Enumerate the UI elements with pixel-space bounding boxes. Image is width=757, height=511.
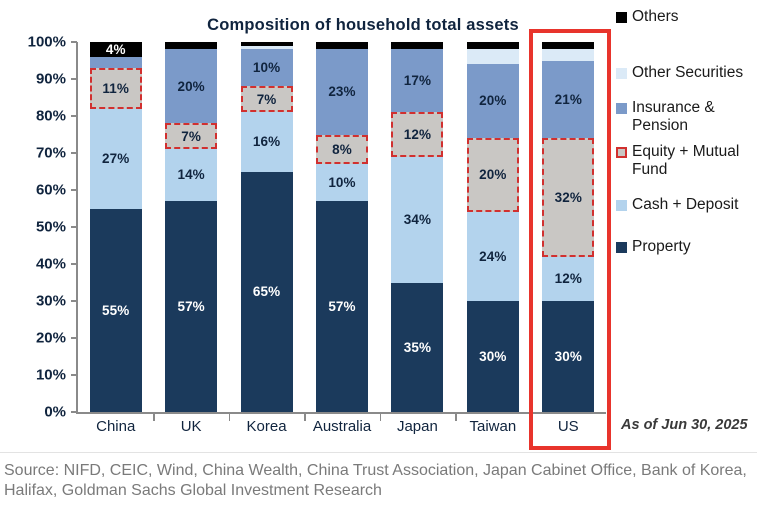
bar-segment[interactable]: 27% [90, 109, 142, 209]
chart-title: Composition of household total assets [178, 16, 548, 35]
legend-item[interactable]: Insurance & Pension [616, 99, 757, 136]
bar-segment-label: 30% [479, 350, 506, 364]
bar-group[interactable]: 35%34%12%17% [391, 42, 443, 412]
y-axis-labels: 0%10%20%30%40%50%60%70%80%90%100% [0, 42, 68, 414]
y-axis-tick-mark [71, 78, 77, 80]
chart-legend: OthersOther SecuritiesInsurance & Pensio… [616, 8, 757, 258]
legend-swatch-icon [616, 68, 627, 79]
x-axis-divider [229, 412, 231, 421]
legend-label: Cash + Deposit [632, 196, 738, 214]
y-axis-tick-label: 70% [0, 145, 66, 162]
bar-segment[interactable]: 16% [241, 112, 293, 171]
bar-group[interactable]: 55%27%11%4% [90, 42, 142, 412]
stacked-bar[interactable]: 55%27%11%4% [90, 42, 142, 412]
legend-item[interactable]: Other Securities [616, 64, 757, 82]
legend-item[interactable]: Property [616, 238, 757, 256]
bar-segment-label: 11% [102, 82, 129, 96]
bar-group[interactable]: 65%16%7%10% [241, 42, 293, 412]
y-axis-tick-label: 40% [0, 256, 66, 273]
bar-group[interactable]: 57%14%7%20% [165, 42, 217, 412]
y-axis-tick-mark [71, 263, 77, 265]
stacked-bar[interactable]: 35%34%12%17% [391, 42, 443, 412]
x-axis-category-label: Australia [304, 418, 379, 435]
bar-segment[interactable] [90, 57, 142, 68]
bar-segment[interactable]: 30% [467, 301, 519, 412]
legend-swatch-icon [616, 103, 627, 114]
bar-segment[interactable] [316, 42, 368, 49]
bar-group[interactable]: 57%10%8%23% [316, 42, 368, 412]
bar-segment-label: 7% [181, 130, 201, 144]
bar-segment-label: 32% [555, 191, 582, 205]
x-axis-category-label: Korea [229, 418, 304, 435]
bar-segment[interactable] [165, 42, 217, 49]
x-axis-divider [304, 412, 306, 421]
y-axis-tick-mark [71, 41, 77, 43]
bar-segment-label: 35% [404, 341, 431, 355]
bar-segment[interactable]: 20% [467, 64, 519, 138]
bar-segment[interactable]: 20% [467, 138, 519, 212]
bar-segment-label: 8% [332, 143, 352, 157]
legend-label: Others [632, 8, 679, 26]
bar-segment[interactable]: 12% [542, 257, 594, 301]
bar-segment[interactable]: 10% [316, 164, 368, 201]
legend-label: Equity + Mutual Fund [632, 143, 757, 180]
legend-swatch-icon [616, 242, 627, 253]
legend-label: Other Securities [632, 64, 743, 82]
bar-segment-label: 12% [404, 128, 431, 142]
y-axis-tick-label: 10% [0, 367, 66, 384]
bar-segment[interactable]: 57% [316, 201, 368, 412]
bar-segment[interactable]: 55% [90, 209, 142, 413]
bar-segment[interactable] [241, 42, 293, 46]
bar-segment-label: 21% [555, 93, 582, 107]
bar-segment-label: 65% [253, 285, 280, 299]
bar-segment-label: 20% [479, 168, 506, 182]
bar-segment[interactable]: 32% [542, 138, 594, 256]
bar-segment-label: 34% [404, 213, 431, 227]
y-axis-tick-mark [71, 411, 77, 413]
y-axis-tick-label: 100% [0, 34, 66, 51]
x-axis-line [76, 412, 606, 414]
y-axis-tick-mark [71, 189, 77, 191]
bar-segment-label: 7% [257, 93, 277, 107]
legend-swatch-icon [616, 12, 627, 23]
x-axis-category-label: US [531, 418, 606, 435]
as-of-note: As of Jun 30, 2025 [621, 417, 751, 434]
bar-series-container: 55%27%11%4%China57%14%7%20%UK65%16%7%10%… [78, 42, 606, 412]
y-axis-tick-label: 60% [0, 182, 66, 199]
bar-segment[interactable] [467, 42, 519, 49]
bar-segment[interactable]: 21% [542, 61, 594, 139]
bar-segment[interactable]: 17% [391, 49, 443, 112]
y-axis-tick-label: 90% [0, 71, 66, 88]
bar-segment[interactable]: 7% [241, 86, 293, 112]
legend-item[interactable]: Equity + Mutual Fund [616, 143, 757, 180]
bar-segment[interactable]: 34% [391, 157, 443, 283]
stacked-bar[interactable]: 30%12%32%21% [542, 42, 594, 412]
bar-segment[interactable] [542, 42, 594, 49]
bar-segment[interactable]: 35% [391, 283, 443, 413]
bar-segment-label: 23% [328, 85, 355, 99]
stacked-bar[interactable]: 65%16%7%10% [241, 42, 293, 412]
legend-item[interactable]: Cash + Deposit [616, 196, 757, 214]
source-divider [0, 452, 757, 453]
bar-segment[interactable]: 14% [165, 149, 217, 201]
bar-segment[interactable]: 20% [165, 49, 217, 123]
bar-segment[interactable] [467, 49, 519, 64]
y-axis-tick-mark [71, 374, 77, 376]
bar-segment[interactable]: 12% [391, 112, 443, 156]
bar-segment-label: 4% [106, 43, 126, 57]
y-axis-tick-mark [71, 115, 77, 117]
bar-segment-label: 10% [253, 61, 280, 75]
bar-segment-label: 10% [328, 176, 355, 190]
bar-segment[interactable]: 30% [542, 301, 594, 412]
legend-spacer [616, 216, 757, 238]
bar-segment[interactable]: 57% [165, 201, 217, 412]
x-axis-category-label: Japan [380, 418, 455, 435]
bar-segment[interactable]: 24% [467, 212, 519, 301]
x-axis-divider [380, 412, 382, 421]
legend-label: Insurance & Pension [632, 99, 757, 136]
legend-label: Property [632, 238, 691, 256]
legend-swatch-icon [616, 147, 627, 158]
bar-segment-label: 20% [177, 80, 204, 94]
y-axis-tick-mark [71, 337, 77, 339]
y-axis-tick-mark [71, 226, 77, 228]
stacked-bar[interactable]: 57%10%8%23% [316, 42, 368, 412]
x-axis-divider [455, 412, 457, 421]
bar-segment[interactable]: 23% [316, 49, 368, 134]
bar-segment[interactable]: 8% [316, 135, 368, 165]
bar-segment[interactable]: 11% [90, 68, 142, 109]
y-axis-tick-mark [71, 300, 77, 302]
bar-segment-label: 12% [555, 272, 582, 286]
bar-segment-label: 14% [177, 168, 204, 182]
y-axis-tick-mark [71, 152, 77, 154]
bar-group[interactable]: 30%24%20%20% [467, 42, 519, 412]
y-axis-tick-label: 0% [0, 404, 66, 421]
bar-segment[interactable]: 10% [241, 49, 293, 86]
bar-segment[interactable]: 65% [241, 172, 293, 413]
source-note: Source: NIFD, CEIC, Wind, China Wealth, … [4, 461, 754, 500]
bar-segment[interactable] [542, 49, 594, 60]
bar-segment-label: 57% [328, 300, 355, 314]
y-axis-tick-label: 80% [0, 108, 66, 125]
x-axis-category-label: UK [153, 418, 228, 435]
plot-area: 55%27%11%4%China57%14%7%20%UK65%16%7%10%… [76, 42, 606, 414]
stacked-bar[interactable]: 30%24%20%20% [467, 42, 519, 412]
legend-spacer [616, 85, 757, 99]
y-axis-tick-label: 30% [0, 293, 66, 310]
y-axis-tick-label: 20% [0, 330, 66, 347]
x-axis-category-label: China [78, 418, 153, 435]
bar-segment[interactable]: 7% [165, 123, 217, 149]
bar-segment-label: 57% [177, 300, 204, 314]
legend-spacer [616, 182, 757, 196]
bar-segment[interactable]: 4% [90, 42, 142, 57]
legend-spacer [616, 28, 757, 64]
bar-segment-label: 16% [253, 135, 280, 149]
x-axis-divider [153, 412, 155, 421]
x-axis-category-label: Taiwan [455, 418, 530, 435]
legend-item[interactable]: Others [616, 8, 757, 26]
x-axis-divider [531, 412, 533, 421]
legend-swatch-icon [616, 200, 627, 211]
bar-segment-label: 27% [102, 152, 129, 166]
bar-segment-label: 24% [479, 250, 506, 264]
y-axis-tick-label: 50% [0, 219, 66, 236]
bar-segment-label: 30% [555, 350, 582, 364]
bar-segment-label: 17% [404, 74, 431, 88]
bar-segment-label: 20% [479, 94, 506, 108]
bar-segment-label: 55% [102, 304, 129, 318]
bar-segment[interactable] [391, 42, 443, 49]
bar-group[interactable]: 30%12%32%21% [542, 42, 594, 412]
stacked-bar[interactable]: 57%14%7%20% [165, 42, 217, 412]
bar-segment[interactable] [241, 46, 293, 50]
